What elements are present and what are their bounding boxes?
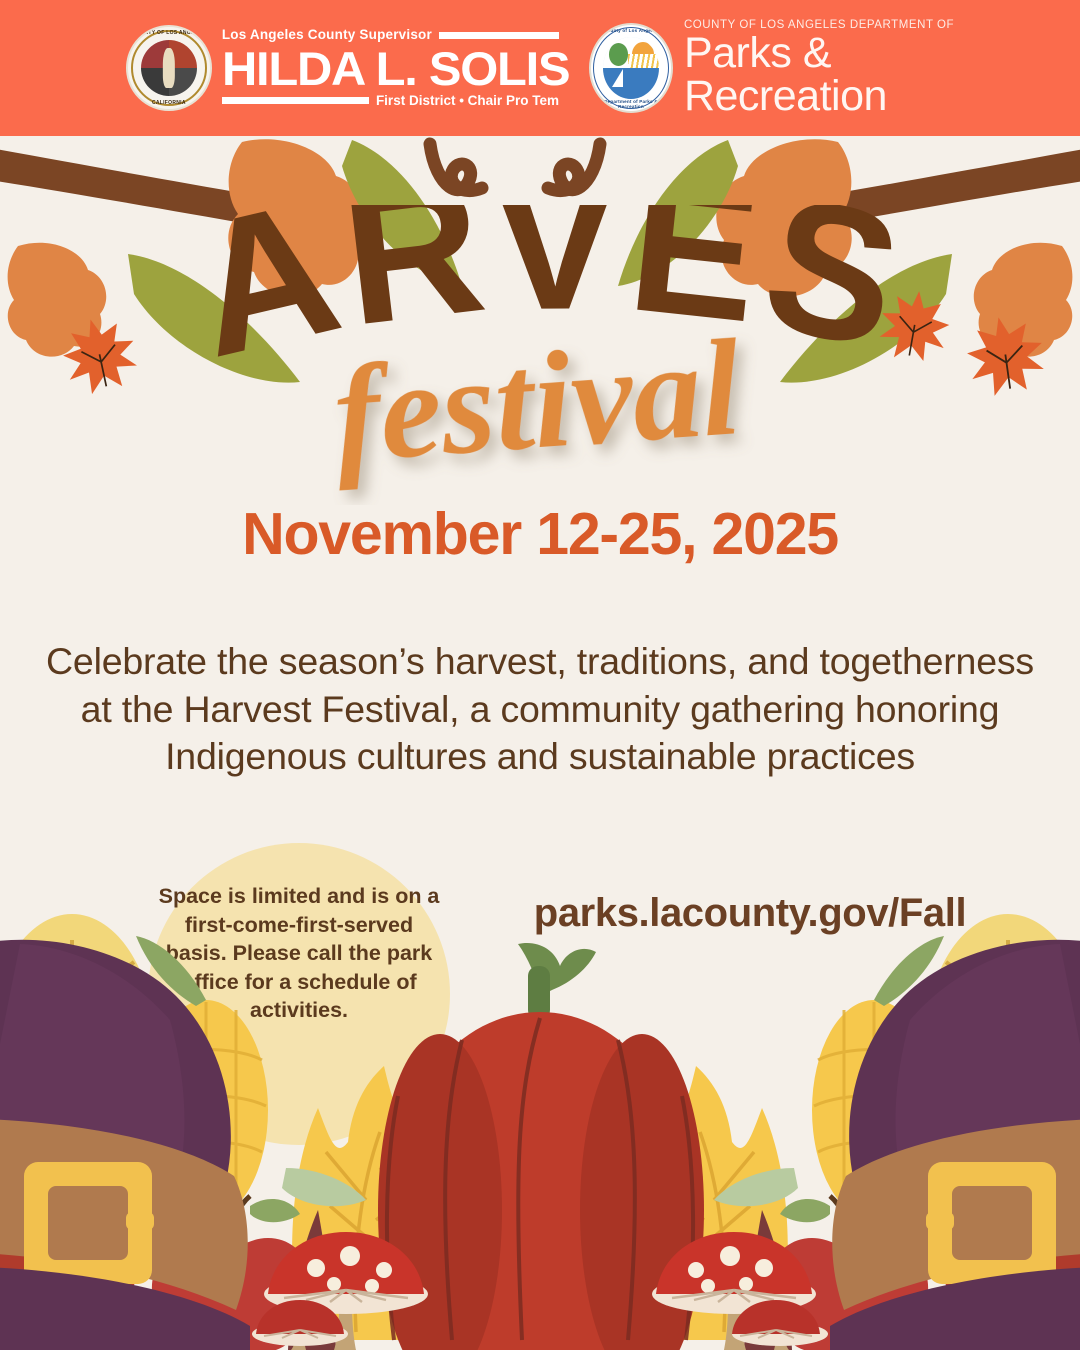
sage-leaf-left [282,1168,366,1206]
parks-name-line1: Parks & [684,32,954,74]
parks-recreation-seal-icon: County of Los Angeles Department of Park… [589,23,673,113]
dark-gourd-right [744,1210,792,1350]
mushroom-right-large [652,1232,816,1350]
green-oak-leaf-left-2 [384,1179,466,1340]
yellow-leaf-left [0,914,156,1186]
harvest-festival-flyer: COUNTY OF LOS ANGELES CALIFORNIA Los Ang… [0,0,1080,1350]
sage-leaf-right [714,1168,798,1206]
la-county-seal-icon: COUNTY OF LOS ANGELES CALIFORNIA [126,25,212,111]
space-limited-note: Space is limited and is on a first-come-… [158,882,440,1025]
golden-fan-leaf-right [614,1066,788,1340]
dark-gourd-left [288,1210,336,1350]
supervisor-text-lockup: Los Angeles County Supervisor HILDA L. S… [222,28,559,107]
kicker-rule [439,32,559,39]
corn-cob-right [812,936,944,1220]
green-oak-leaf-right [528,1122,630,1340]
event-date: November 12-25, 2025 [0,500,1080,568]
green-oak-leaf-left [450,1122,552,1340]
apple-left [152,1196,312,1350]
mushroom-left-large [264,1232,428,1350]
supervisor-subtitle: First District • Chair Pro Tem [376,94,559,108]
festival-title-group: HARVEST festival [0,205,1080,505]
festival-script-text: festival [329,325,746,491]
seal-top-text: COUNTY OF LOS ANGELES [128,30,210,36]
parks-name-line2: Recreation [684,75,954,117]
parks-logo-block: County of Los Angeles Department of Park… [589,19,954,116]
festival-script-wordmark: festival [0,325,1080,505]
parks-seal-top-text: County of Los Angeles [591,28,671,33]
mushroom-left-small [252,1300,348,1350]
subtitle-rule [222,97,369,104]
seal-bottom-text: CALIFORNIA [128,100,210,106]
supervisor-logo-block: COUNTY OF LOS ANGELES CALIFORNIA Los Ang… [126,25,559,111]
parks-text-lockup: COUNTY OF LOS ANGELES DEPARTMENT OF Park… [684,19,954,116]
apple-right [768,1196,928,1350]
agency-header-bar: COUNTY OF LOS ANGELES CALIFORNIA Los Ang… [0,0,1080,136]
supervisor-name: HILDA L. SOLIS [222,44,573,93]
side-pumpkin-right [940,1030,1080,1350]
supervisor-kicker: Los Angeles County Supervisor [222,28,432,42]
event-description: Celebrate the season’s harvest, traditio… [28,638,1052,781]
yellow-leaf-right [924,914,1080,1186]
side-pumpkin-left [0,1030,140,1350]
green-oak-leaf-right-2 [614,1179,696,1340]
parks-seal-bottom-text: Department of Parks & Recreation [591,99,671,109]
pilgrim-hat-right [830,940,1080,1350]
website-url[interactable]: parks.lacounty.gov/Fall [500,891,1000,936]
mushroom-right-small [732,1300,828,1350]
